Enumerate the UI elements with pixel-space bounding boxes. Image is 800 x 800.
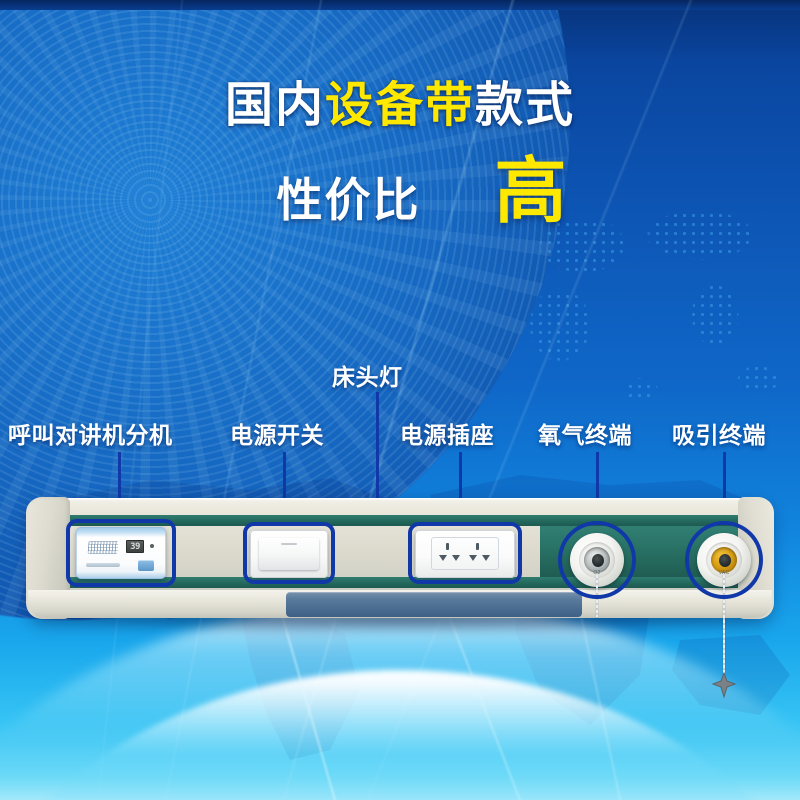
panel-rail-blue-section [286,592,582,617]
callout-label-suction: 吸引终端 [672,416,766,450]
highlight-circle-oxygen [558,521,636,599]
headline-line1-highlight: 设备带 [325,79,475,132]
headline-line-1: 国内设备带款式 [0,82,800,130]
callout-label-switch: 电源开关 [230,416,324,450]
headline-line2-white: 性价比 [276,177,420,223]
product-banner: 国内设备带款式 性价比 高 呼叫对讲机分机 电源开关 床头灯 电源插座 氧气终端… [0,0,800,800]
callout-label-oxygen: 氧气终端 [538,416,632,450]
headline-line1-part1: 国内 [225,79,325,132]
highlight-circle-suction [685,521,763,599]
cord-weight-icon [711,672,737,698]
highlight-box-intercom [66,519,176,587]
highlight-box-socket [408,522,522,584]
callout-label-intercom: 呼叫对讲机分机 [8,416,173,450]
highlight-box-switch [243,522,335,584]
panel-top-highlight [68,498,740,501]
panel-drop-shadow [34,616,762,634]
headline-block: 国内设备带款式 性价比 高 [0,82,800,228]
headline-line-2: 性价比 高 [0,156,800,228]
callout-label-bedlamp: 床头灯 [332,358,403,392]
headline-line2-yellow: 高 [494,156,567,228]
headline-line1-part2: 款式 [475,79,575,132]
callout-label-socket: 电源插座 [400,416,494,450]
